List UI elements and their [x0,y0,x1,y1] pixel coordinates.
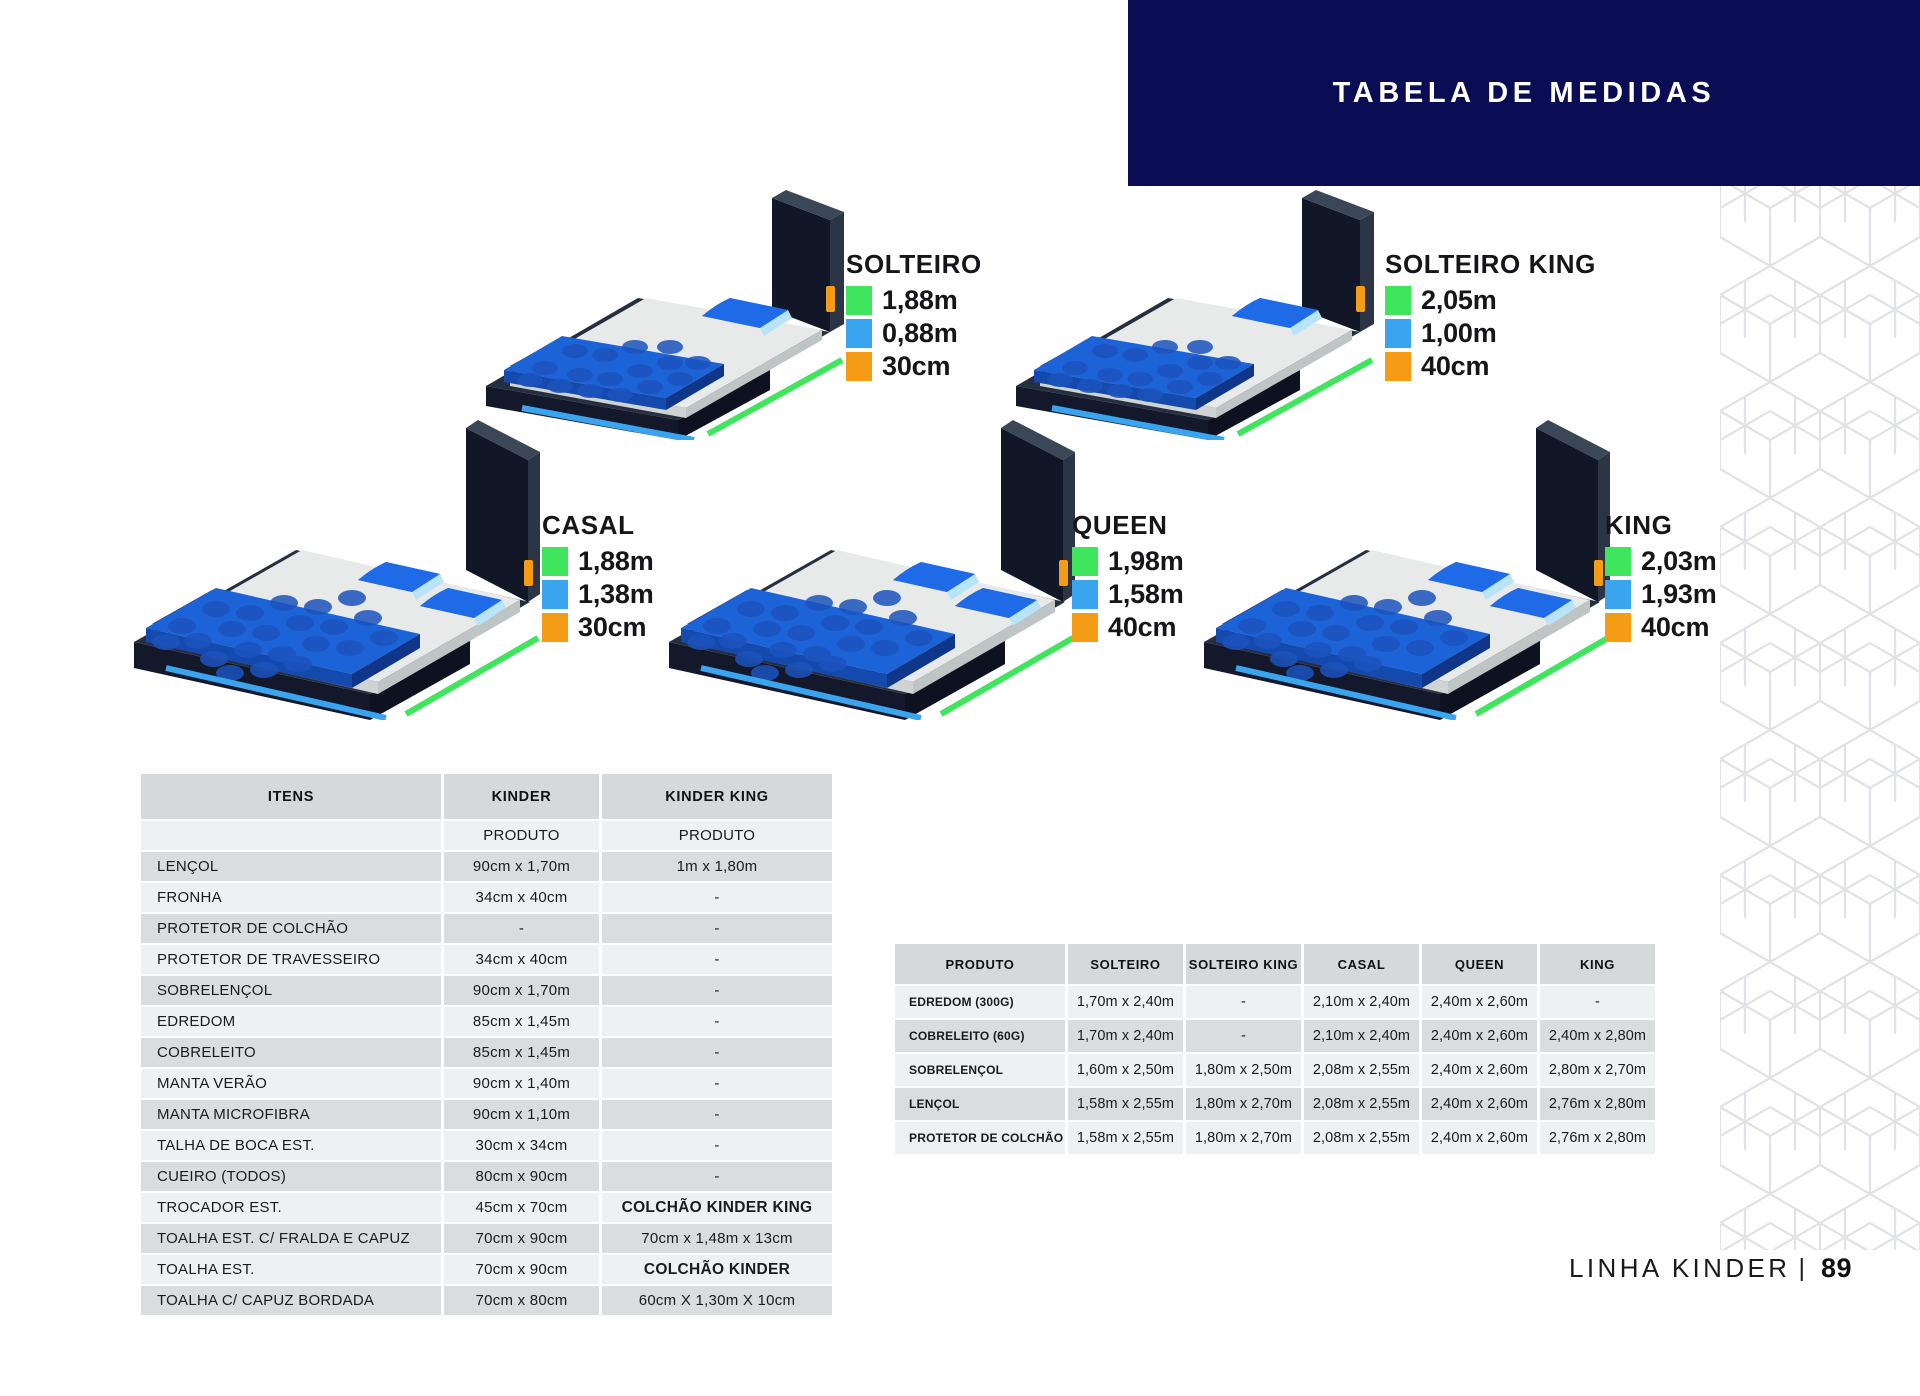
row-kinder: 34cm x 40cm [444,883,599,912]
row-item: MANTA MICROFIBRA [141,1100,441,1129]
cell-solteiro-king: 1,80m x 2,70m [1186,1122,1301,1154]
kinder-sizes-table: ITENS KINDER KINDER KING PRODUTO PRODUTO… [138,772,835,1317]
bed-illustration-solteiro-king [1000,190,1400,440]
row-kinder-king: - [602,1069,832,1098]
legend-value-length: 1,98m [1108,546,1184,577]
table-row: TALHA DE BOCA EST. 30cm x 34cm - [141,1131,832,1160]
legend-value-height: 40cm [1421,351,1489,382]
subrow-produto-kk: PRODUTO [602,821,832,850]
legend-row-width: 1,58m [1072,578,1184,611]
col-header-solteiro: SOLTEIRO [1068,944,1183,984]
cell-solteiro-king: 1,80m x 2,50m [1186,1054,1301,1086]
table-row: MANTA MICROFIBRA 90cm x 1,10m - [141,1100,832,1129]
swatch-orange-icon [1605,613,1631,642]
row-kinder-king: - [602,1038,832,1067]
cell-casal: 2,08m x 2,55m [1304,1054,1419,1086]
legend-value-width: 1,38m [578,579,654,610]
row-kinder-king: 1m x 1,80m [602,852,832,881]
legend-row-length: 1,98m [1072,545,1184,578]
row-kinder: 90cm x 1,70m [444,976,599,1005]
cell-solteiro: 1,60m x 2,50m [1068,1054,1183,1086]
row-item: FRONHA [141,883,441,912]
cell-solteiro-king: - [1186,1020,1301,1052]
table-head: PRODUTO SOLTEIRO SOLTEIRO KING CASAL QUE… [895,944,1655,984]
legend-row-height: 40cm [1072,611,1184,644]
table-head: ITENS KINDER KINDER KING [141,774,832,819]
table-row: PROTETOR DE COLCHÃO - - [141,914,832,943]
legend-row-height: 40cm [1605,611,1717,644]
legend-value-width: 1,58m [1108,579,1184,610]
table-row: FRONHA 34cm x 40cm - [141,883,832,912]
bed-label-solteiro: SOLTEIRO [846,251,982,277]
legend-row-width: 1,93m [1605,578,1717,611]
table-row: SOBRELENÇOL 1,60m x 2,50m 1,80m x 2,50m … [895,1054,1655,1086]
table-row: MANTA VERÃO 90cm x 1,40m - [141,1069,832,1098]
table-row: TOALHA C/ CAPUZ BORDADA 70cm x 80cm 60cm… [141,1286,832,1315]
swatch-green-icon [542,547,568,576]
legend-king: KING 2,03m 1,93m 40cm [1605,512,1717,644]
row-kinder-king: - [602,1100,832,1129]
swatch-blue-icon [1072,580,1098,609]
cell-solteiro-king: - [1186,986,1301,1018]
table-body: EDREDOM (300G) 1,70m x 2,40m - 2,10m x 2… [895,986,1655,1154]
table-row: TROCADOR EST. 45cm x 70cm COLCHÃO KINDER… [141,1193,832,1222]
col-header-kinder-king: KINDER KING [602,774,832,819]
col-header-queen: QUEEN [1422,944,1537,984]
bed-illustration-casal [120,420,560,720]
row-item: TALHA DE BOCA EST. [141,1131,441,1160]
cell-queen: 2,40m x 2,60m [1422,986,1537,1018]
row-item: CUEIRO (TODOS) [141,1162,441,1191]
bed-svg-single-king [1000,190,1400,440]
swatch-blue-icon [846,319,872,348]
row-produto: SOBRELENÇOL [895,1054,1065,1086]
table-row: LENÇOL 90cm x 1,70m 1m x 1,80m [141,852,832,881]
swatch-orange-icon [542,613,568,642]
swatch-orange-icon [846,352,872,381]
legend-row-length: 2,03m [1605,545,1717,578]
cell-casal: 2,10m x 2,40m [1304,1020,1419,1052]
row-kinder: - [444,914,599,943]
subrow-produto-k: PRODUTO [444,821,599,850]
table-row: CUEIRO (TODOS) 80cm x 90cm - [141,1162,832,1191]
row-produto: EDREDOM (300G) [895,986,1065,1018]
table-subheader-row: PRODUTO PRODUTO [141,821,832,850]
footer-page-number: 89 [1821,1253,1852,1284]
legend-queen: QUEEN 1,98m 1,58m 40cm [1072,512,1184,644]
swatch-green-icon [1072,547,1098,576]
table-row: PROTETOR DE TRAVESSEIRO 34cm x 40cm - [141,945,832,974]
swatch-blue-icon [1385,319,1411,348]
legend-solteiro: SOLTEIRO 1,88m 0,88m 30cm [846,251,982,383]
row-item: TROCADOR EST. [141,1193,441,1222]
table-row: COBRELEITO 85cm x 1,45m - [141,1038,832,1067]
bed-illustration-queen [655,420,1095,720]
cell-casal: 2,08m x 2,55m [1304,1088,1419,1120]
row-kinder: 70cm x 90cm [444,1224,599,1253]
bed-label-solteiro-king: SOLTEIRO KING [1385,251,1596,277]
cell-king: 2,76m x 2,80m [1540,1088,1655,1120]
bed-svg-single [470,190,870,440]
row-item: TOALHA C/ CAPUZ BORDADA [141,1286,441,1315]
row-kinder: 45cm x 70cm [444,1193,599,1222]
cell-king: 2,76m x 2,80m [1540,1122,1655,1154]
row-kinder-king: COLCHÃO KINDER KING [602,1193,832,1222]
swatch-green-icon [1385,286,1411,315]
row-item: PROTETOR DE TRAVESSEIRO [141,945,441,974]
row-produto: PROTETOR DE COLCHÃO [895,1122,1065,1154]
row-item: COBRELEITO [141,1038,441,1067]
row-kinder: 85cm x 1,45m [444,1007,599,1036]
legend-value-height: 30cm [882,351,950,382]
table-row: EDREDOM 85cm x 1,45m - [141,1007,832,1036]
bed-label-king: KING [1605,512,1717,538]
col-header-kinder: KINDER [444,774,599,819]
row-item: LENÇOL [141,852,441,881]
cell-king: 2,80m x 2,70m [1540,1054,1655,1086]
row-produto: COBRELEITO (60G) [895,1020,1065,1052]
row-kinder: 34cm x 40cm [444,945,599,974]
legend-row-length: 2,05m [1385,284,1596,317]
legend-row-length: 1,88m [542,545,654,578]
row-produto: LENÇOL [895,1088,1065,1120]
bed-illustration-solteiro [470,190,870,440]
legend-value-length: 2,05m [1421,285,1497,316]
table-row: COBRELEITO (60G) 1,70m x 2,40m - 2,10m x… [895,1020,1655,1052]
row-kinder: 70cm x 80cm [444,1286,599,1315]
col-header-casal: CASAL [1304,944,1419,984]
col-header-solteiro-king: SOLTEIRO KING [1186,944,1301,984]
row-item: MANTA VERÃO [141,1069,441,1098]
swatch-green-icon [846,286,872,315]
legend-value-height: 40cm [1641,612,1709,643]
cell-solteiro: 1,70m x 2,40m [1068,986,1183,1018]
cell-solteiro: 1,58m x 2,55m [1068,1122,1183,1154]
row-kinder-king: - [602,1131,832,1160]
row-kinder: 90cm x 1,10m [444,1100,599,1129]
legend-value-height: 30cm [578,612,646,643]
row-kinder: 30cm x 34cm [444,1131,599,1160]
cell-queen: 2,40m x 2,60m [1422,1088,1537,1120]
legend-row-height: 30cm [846,350,982,383]
cell-queen: 2,40m x 2,60m [1422,1020,1537,1052]
cell-solteiro: 1,58m x 2,55m [1068,1088,1183,1120]
table-row: SOBRELENÇOL 90cm x 1,70m - [141,976,832,1005]
row-kinder-king: 60cm X 1,30m X 10cm [602,1286,832,1315]
bed-svg-queen [655,420,1095,720]
table-header-row: ITENS KINDER KINDER KING [141,774,832,819]
row-kinder-king: - [602,1162,832,1191]
row-kinder: 90cm x 1,40m [444,1069,599,1098]
row-kinder-king: - [602,1007,832,1036]
legend-casal: CASAL 1,88m 1,38m 30cm [542,512,654,644]
row-kinder: 90cm x 1,70m [444,852,599,881]
legend-value-height: 40cm [1108,612,1176,643]
page-root: TABELA DE MEDIDAS [0,0,1920,1396]
cell-king: - [1540,986,1655,1018]
cell-casal: 2,08m x 2,55m [1304,1122,1419,1154]
legend-value-width: 1,00m [1421,318,1497,349]
table-body: PRODUTO PRODUTO LENÇOL 90cm x 1,70m 1m x… [141,821,832,1315]
legend-value-length: 2,03m [1641,546,1717,577]
row-kinder: 80cm x 90cm [444,1162,599,1191]
cell-solteiro: 1,70m x 2,40m [1068,1020,1183,1052]
col-header-produto: PRODUTO [895,944,1065,984]
row-item: EDREDOM [141,1007,441,1036]
cell-queen: 2,40m x 2,60m [1422,1054,1537,1086]
legend-value-length: 1,88m [882,285,958,316]
cell-king: 2,40m x 2,80m [1540,1020,1655,1052]
table-row: EDREDOM (300G) 1,70m x 2,40m - 2,10m x 2… [895,986,1655,1018]
swatch-orange-icon [1385,352,1411,381]
page-title: TABELA DE MEDIDAS [1333,77,1716,110]
bed-svg-double [120,420,560,720]
legend-row-height: 40cm [1385,350,1596,383]
swatch-blue-icon [542,580,568,609]
swatch-blue-icon [1605,580,1631,609]
col-header-itens: ITENS [141,774,441,819]
header-bar: TABELA DE MEDIDAS [1128,0,1920,186]
row-kinder: 85cm x 1,45m [444,1038,599,1067]
row-kinder-king: COLCHÃO KINDER [602,1255,832,1284]
legend-row-width: 0,88m [846,317,982,350]
row-item: PROTETOR DE COLCHÃO [141,914,441,943]
row-kinder-king: - [602,976,832,1005]
bed-label-casal: CASAL [542,512,654,538]
row-kinder: 70cm x 90cm [444,1255,599,1284]
background-isometric-pattern [1720,150,1920,1250]
legend-row-length: 1,88m [846,284,982,317]
row-kinder-king: - [602,883,832,912]
table-row: TOALHA EST. C/ FRALDA E CAPUZ 70cm x 90c… [141,1224,832,1253]
table-row: LENÇOL 1,58m x 2,55m 1,80m x 2,70m 2,08m… [895,1088,1655,1120]
col-header-king: KING [1540,944,1655,984]
subrow-blank [141,821,441,850]
row-item: SOBRELENÇOL [141,976,441,1005]
legend-value-length: 1,88m [578,546,654,577]
footer-line-label: LINHA KINDER [1569,1253,1790,1284]
row-kinder-king: - [602,914,832,943]
legend-solteiro-king: SOLTEIRO KING 2,05m 1,00m 40cm [1385,251,1596,383]
product-sizes-table: PRODUTO SOLTEIRO SOLTEIRO KING CASAL QUE… [892,942,1658,1156]
legend-row-width: 1,00m [1385,317,1596,350]
swatch-orange-icon [1072,613,1098,642]
row-item: TOALHA EST. [141,1255,441,1284]
legend-row-height: 30cm [542,611,654,644]
cell-casal: 2,10m x 2,40m [1304,986,1419,1018]
cell-queen: 2,40m x 2,60m [1422,1122,1537,1154]
legend-value-width: 0,88m [882,318,958,349]
page-footer: LINHA KINDER | 89 [1569,1253,1852,1284]
table-row: TOALHA EST. 70cm x 90cm COLCHÃO KINDER [141,1255,832,1284]
row-kinder-king: 70cm x 1,48m x 13cm [602,1224,832,1253]
row-item: TOALHA EST. C/ FRALDA E CAPUZ [141,1224,441,1253]
table-row: PROTETOR DE COLCHÃO 1,58m x 2,55m 1,80m … [895,1122,1655,1154]
swatch-green-icon [1605,547,1631,576]
table-header-row: PRODUTO SOLTEIRO SOLTEIRO KING CASAL QUE… [895,944,1655,984]
bed-illustration-king [1190,420,1630,720]
legend-value-width: 1,93m [1641,579,1717,610]
cell-solteiro-king: 1,80m x 2,70m [1186,1088,1301,1120]
row-kinder-king: - [602,945,832,974]
legend-row-width: 1,38m [542,578,654,611]
footer-separator: | [1798,1254,1805,1283]
bed-svg-king [1190,420,1630,720]
bed-label-queen: QUEEN [1072,512,1184,538]
